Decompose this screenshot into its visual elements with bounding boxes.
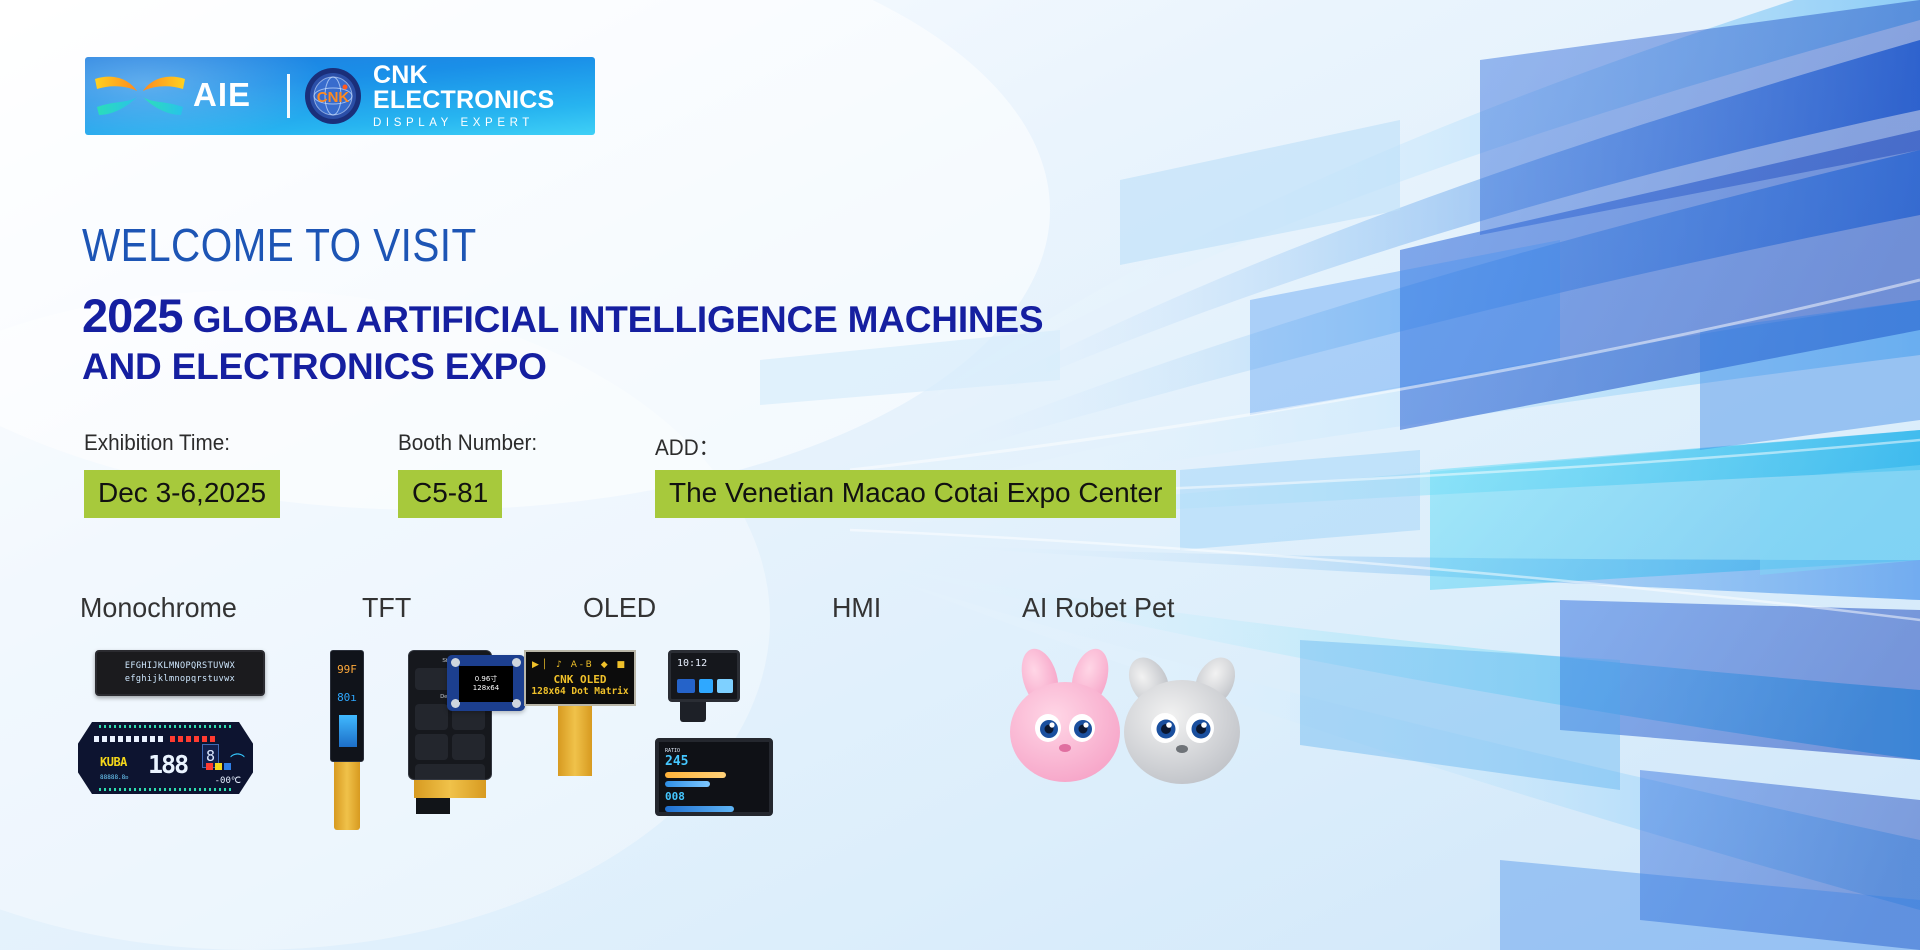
hmi-small-tile-1 (677, 679, 695, 693)
hmi-small-connector (680, 702, 706, 722)
product-cnk-oled-glass: ▶│ ♪ A-B ◆ ■ CNK OLED 128x64 Dot Matrix (524, 650, 636, 776)
tft-panel-tile-row-2 (415, 734, 485, 760)
tft-panel-driver-ic (416, 798, 450, 814)
hmi-large-slider-1 (665, 772, 726, 778)
cnk-seal-icon: CNK (304, 67, 362, 125)
dash-brand: KUBA (100, 755, 127, 769)
oled-pcb-hole-tr (512, 658, 521, 667)
plush-pet-pink (1000, 640, 1130, 790)
oled-subtitle: 128x64 Dot Matrix (531, 686, 628, 697)
dash-speed: 188 (148, 750, 187, 779)
oled-pcb-hole-br (512, 699, 521, 708)
oled-title: CNK OLED (554, 673, 607, 686)
hmi-large-slider-2 (665, 781, 710, 787)
hmi-large-slider-3 (665, 806, 734, 812)
product-hmi-large: RATIO 245 008 (655, 738, 773, 816)
product-dashboard-cluster: KUBA 188 8 -00℃ 88888.8ᴅ ⌒ (78, 722, 253, 794)
tft-bar-value-mid: 80ı (331, 691, 363, 704)
cnk-tagline: DISPLAY EXPERT (373, 118, 595, 130)
char-lcd-line1: EFGHIJKLMNOPQRSTUVWX (125, 660, 235, 673)
oled-pcb-screen: 0.96寸 128x64 (459, 666, 513, 702)
aie-logo: AIE (85, 57, 285, 135)
hmi-large-value: 245 (665, 754, 763, 769)
aie-eye-icon (85, 57, 195, 135)
dash-pins-top (99, 725, 232, 728)
char-lcd-line2: efghijklmnopqrstuvwx (125, 673, 235, 686)
tft-panel-flex-cable (414, 780, 486, 798)
product-character-lcd: EFGHIJKLMNOPQRSTUVWX efghijklmnopqrstuvw… (95, 650, 265, 696)
product-hmi-small: 10:12 (668, 650, 740, 722)
tft-panel-wide-tile (415, 764, 485, 780)
address-value: The Venetian Macao Cotai Expo Center (655, 470, 1176, 518)
dash-indicators (206, 763, 231, 770)
hmi-small-tile-3 (717, 679, 733, 693)
oled-status-icons: ▶│ ♪ A-B ◆ ■ (532, 660, 628, 670)
tft-bar-flex-cable (334, 762, 360, 830)
product-oled-pcb-module: 0.96寸 128x64 (447, 655, 525, 711)
cnk-company-name: CNK ELECTRONICS (373, 63, 595, 113)
event-title-line1: GLOBAL ARTIFICIAL INTELLIGENCE MACHINES (183, 299, 1044, 340)
event-headline: 2025 GLOBAL ARTIFICIAL INTELLIGENCE MACH… (82, 288, 1043, 389)
dash-tach-white (94, 736, 166, 742)
booth-number-label: Booth Number: (398, 430, 537, 456)
address-label: ADD： (655, 430, 719, 462)
oled-pcb-line1: 0.96寸 (475, 675, 498, 684)
dash-odometer: 88888.8ᴅ (100, 774, 128, 781)
dash-tach-red (170, 736, 218, 742)
dash-turn-icon: ⌒ (230, 750, 245, 771)
svg-text:CNK: CNK (317, 89, 350, 106)
tft-bar-graph (339, 715, 357, 747)
brand-logo-bar: AIE CNK CNK ELECTRONICS DISPLAY EXPERT (85, 57, 595, 135)
logo-divider (287, 74, 290, 118)
oled-flex-cable (558, 706, 592, 776)
hmi-large-value-2: 008 (665, 790, 763, 803)
category-label-monochrome: Monochrome (80, 592, 237, 624)
hmi-small-tile-2 (699, 679, 713, 693)
booth-number-value: C5-81 (398, 470, 502, 518)
aie-wordmark: AIE (193, 76, 251, 114)
product-tft-bar-display: 99F 80ı (330, 650, 364, 830)
category-label-tft: TFT (362, 592, 411, 624)
plush-pet-gray (1115, 640, 1250, 790)
exhibition-time-value: Dec 3-6,2025 (84, 470, 280, 518)
category-label-ai-robot-pet: AI Robet Pet (1022, 592, 1174, 624)
oled-pcb-line2: 128x64 (473, 684, 499, 693)
event-year: 2025 (82, 289, 183, 342)
category-label-hmi: HMI (832, 592, 881, 624)
cnk-wordmark-block: CNK ELECTRONICS DISPLAY EXPERT (373, 63, 595, 130)
exhibition-time-label: Exhibition Time: (84, 430, 230, 456)
category-label-oled: OLED (583, 592, 656, 624)
dash-pins-bottom (99, 788, 232, 791)
welcome-heading: WELCOME TO VISIT (82, 218, 477, 272)
event-title-line2: AND ELECTRONICS EXPO (82, 345, 1043, 389)
dash-temperature: -00℃ (215, 776, 241, 786)
hmi-small-clock: 10:12 (677, 658, 707, 669)
tft-bar-value-top: 99F (331, 663, 363, 676)
